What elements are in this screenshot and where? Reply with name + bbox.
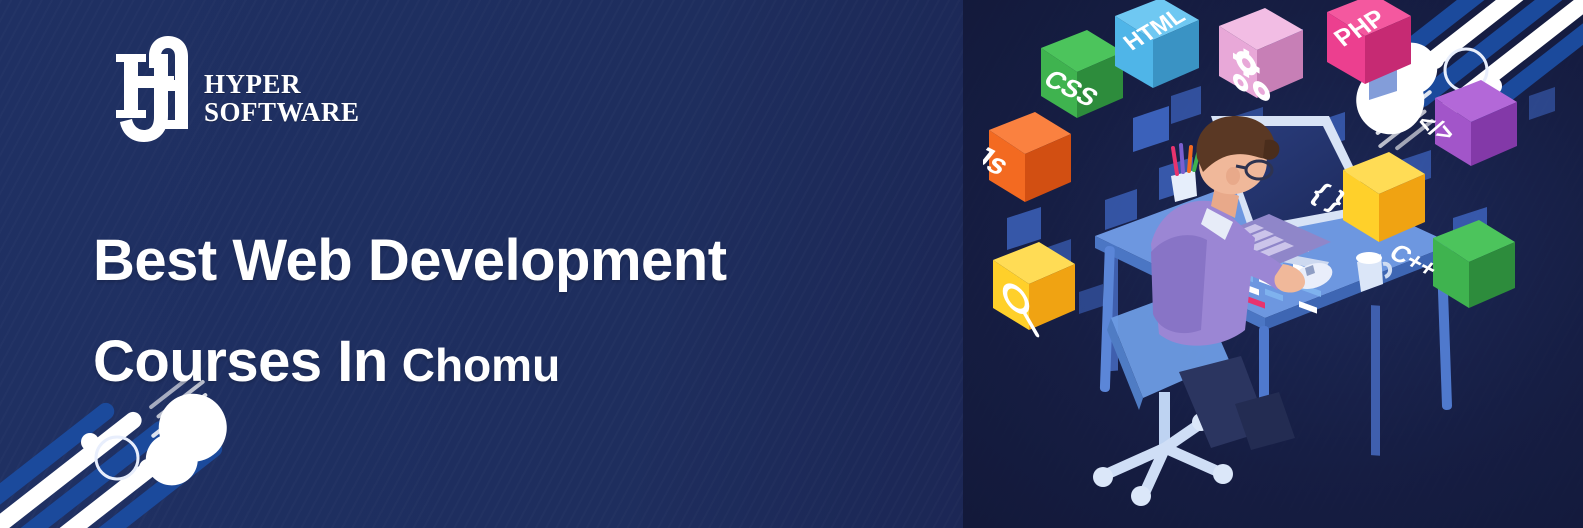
css-icon: CSS xyxy=(1038,30,1123,118)
hs-monogram-icon xyxy=(110,14,206,154)
js-icon: Js xyxy=(983,112,1071,202)
headline-line-2: Courses In xyxy=(93,329,388,394)
php-icon: PHP xyxy=(1327,0,1411,84)
headline-line-2-wrapper: Courses InChomu xyxy=(93,333,973,391)
headline-line-1: Best Web Development xyxy=(93,232,973,290)
html-icon: HTML xyxy=(1115,0,1199,88)
promo-banner: HYPER SOFTWARE Best Web Development Cour… xyxy=(0,0,1583,528)
pencil-cup xyxy=(1171,145,1199,202)
gears-icon xyxy=(1219,8,1303,107)
headline-block: Best Web Development Courses InChomu xyxy=(93,232,973,391)
brand-wordmark: HYPER SOFTWARE xyxy=(204,71,360,126)
brand-logo[interactable]: HYPER SOFTWARE xyxy=(110,14,360,154)
brand-name-line-2: SOFTWARE xyxy=(204,99,360,127)
headline-city: Chomu xyxy=(402,339,560,391)
brand-name-line-1: HYPER xyxy=(204,71,360,99)
developer-illustration: CSS HTML xyxy=(983,0,1583,528)
